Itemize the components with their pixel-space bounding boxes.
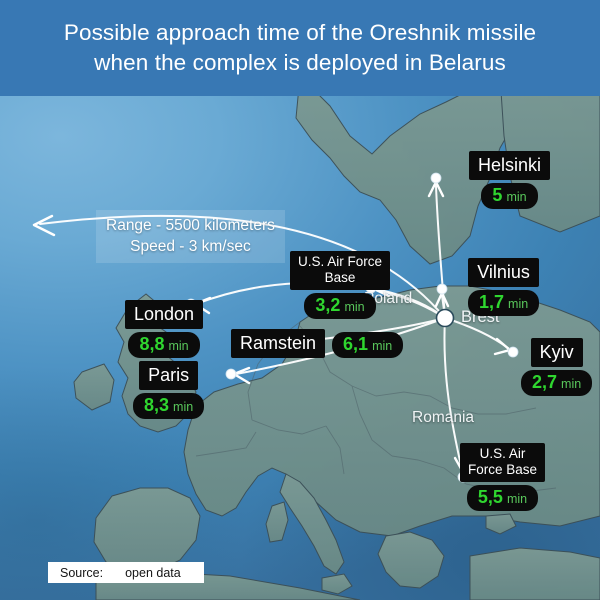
geo-label-romania: Romania <box>412 409 474 427</box>
badge-value-usaf-romania: 5,5 <box>478 487 503 508</box>
land-sicily <box>322 574 352 594</box>
callout-london[interactable]: London 8,8 min <box>125 300 203 358</box>
map-canvas: Range - 5500 kilometers Speed - 3 km/sec… <box>0 96 600 600</box>
badge-unit-ramstein: min <box>372 338 392 354</box>
callout-label-ramstein: Ramstein <box>231 329 325 358</box>
infographic-root: Possible approach time of the Oreshnik m… <box>0 0 600 600</box>
callout-helsinki[interactable]: Helsinki 5 min <box>469 151 550 209</box>
callout-usaf-romania[interactable]: U.S. Air Force Base 5,5 min <box>460 443 545 511</box>
badge-value-helsinki: 5 <box>492 185 502 206</box>
target-dot-vilnius <box>437 284 447 294</box>
callout-label-usaf-poland: U.S. Air Force Base <box>290 251 390 290</box>
range-speed-infobox: Range - 5500 kilometers Speed - 3 km/sec <box>96 210 285 263</box>
callout-badge-ramstein: 6,1 min <box>332 332 403 358</box>
callout-usaf-poland[interactable]: U.S. Air Force Base 3,2 min <box>290 251 390 319</box>
callout-badge-vilnius: 1,7 min <box>468 290 539 316</box>
source-value: open data <box>125 566 181 580</box>
badge-value-london: 8,8 <box>139 334 164 355</box>
arrowhead-paris <box>234 368 249 383</box>
callout-label-paris: Paris <box>139 361 198 390</box>
badge-unit-usaf-poland: min <box>344 299 364 315</box>
callout-badge-usaf-poland: 3,2 min <box>304 293 375 319</box>
callout-badge-kyiv: 2,7 min <box>521 370 592 396</box>
land-crimea <box>486 514 516 534</box>
badge-unit-helsinki: min <box>506 189 526 205</box>
badge-value-paris: 8,3 <box>144 395 169 416</box>
callout-badge-usaf-romania: 5,5 min <box>467 485 538 511</box>
badge-value-ramstein: 6,1 <box>343 334 368 355</box>
target-dot-paris <box>226 369 236 379</box>
land-ireland <box>74 364 114 410</box>
target-dot-helsinki <box>431 173 441 183</box>
origin-dot-brest <box>437 310 454 327</box>
page-title: Possible approach time of the Oreshnik m… <box>54 18 546 78</box>
callout-label-vilnius: Vilnius <box>468 258 539 287</box>
badge-unit-paris: min <box>173 399 193 415</box>
badge-unit-london: min <box>168 338 188 354</box>
badge-value-usaf-poland: 3,2 <box>315 295 340 316</box>
source-label: Source: <box>60 566 103 580</box>
land-sardinia <box>266 502 288 542</box>
callout-ramstein[interactable]: Ramstein 6,1 min <box>231 329 403 358</box>
callout-badge-london: 8,8 min <box>128 332 199 358</box>
arrowhead-atlantic <box>34 216 54 235</box>
source-bar: Source: open data <box>48 562 204 583</box>
land-anatolia <box>470 548 600 600</box>
callout-vilnius[interactable]: Vilnius 1,7 min <box>468 258 539 316</box>
callout-label-london: London <box>125 300 203 329</box>
badge-unit-usaf-romania: min <box>507 491 527 507</box>
target-dot-kyiv <box>508 347 518 357</box>
callout-badge-helsinki: 5 min <box>481 183 537 209</box>
callout-label-helsinki: Helsinki <box>469 151 550 180</box>
callout-paris[interactable]: Paris 8,3 min <box>133 361 204 419</box>
callout-kyiv[interactable]: Kyiv 2,7 min <box>521 338 592 396</box>
callout-label-usaf-romania: U.S. Air Force Base <box>460 443 545 482</box>
badge-unit-vilnius: min <box>508 296 528 312</box>
badge-unit-kyiv: min <box>561 376 581 392</box>
callout-label-kyiv: Kyiv <box>531 338 583 367</box>
callout-badge-paris: 8,3 min <box>133 393 204 419</box>
badge-value-kyiv: 2,7 <box>532 372 557 393</box>
header-banner: Possible approach time of the Oreshnik m… <box>0 0 600 96</box>
land-balkans <box>378 532 444 588</box>
badge-value-vilnius: 1,7 <box>479 292 504 313</box>
